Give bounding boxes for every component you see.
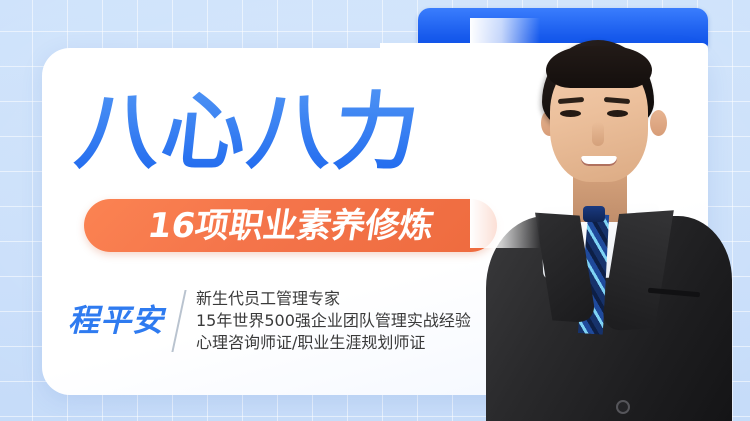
portrait-edge-fade <box>470 18 540 248</box>
eye-right <box>607 110 628 117</box>
mouth <box>581 156 617 166</box>
nose <box>592 122 604 146</box>
credential-line: 15年世界500强企业团队管理实战经验 <box>196 310 471 332</box>
credential-line: 心理咨询师证/职业生涯规划师证 <box>196 332 471 354</box>
page-title: 八心八力 <box>71 86 511 178</box>
speaker-block: 程平安 新生代员工管理专家 15年世界500强企业团队管理实战经验 心理咨询师证… <box>68 288 471 354</box>
ear-right <box>650 110 667 136</box>
suit-button <box>616 400 630 414</box>
subtitle-badge-label: 16项职业素养修炼 <box>145 209 436 243</box>
hair-fringe <box>546 46 652 88</box>
subtitle-badge: 16项职业素养修炼 <box>84 199 497 252</box>
speaker-name: 程平安 <box>68 301 178 341</box>
credential-line: 新生代员工管理专家 <box>196 288 471 310</box>
presenter-portrait <box>470 18 738 421</box>
eye-left <box>560 110 581 117</box>
course-poster: 八心八力 16项职业素养修炼 程平安 新生代员工管理专家 15年世界500强企业… <box>0 0 750 421</box>
speaker-credentials: 新生代员工管理专家 15年世界500强企业团队管理实战经验 心理咨询师证/职业生… <box>196 288 471 354</box>
tie-knot <box>583 206 605 222</box>
